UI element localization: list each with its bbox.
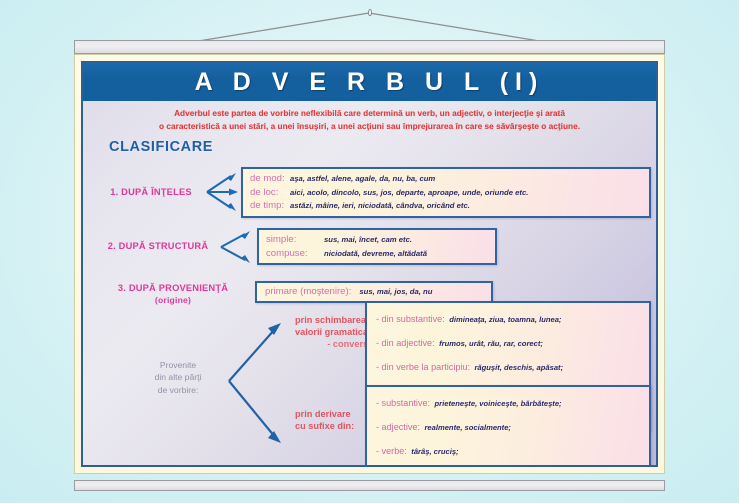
structura-item: compuse: niciodată, devreme, altădată: [266, 247, 488, 261]
definition-text: Adverbul este partea de vorbire neflexib…: [83, 101, 656, 136]
derivare-key-0: - substantive:: [376, 398, 430, 408]
title-bar: A D V E R B U L (I): [83, 63, 656, 101]
derivare-value-2: târâş, cruciş;: [411, 447, 458, 456]
conversiune-key-0: - din substantive:: [376, 314, 445, 324]
inteles-item: de timp: astăzi, mâine, ieri, niciodată,…: [250, 199, 642, 213]
section-provenienta-title: 3. DUPĂ PROVENIENŢĂ: [118, 283, 228, 293]
definition-line-1: Adverbul este partea de vorbire neflexib…: [91, 107, 648, 120]
hanging-hook-icon: [368, 9, 372, 16]
conversiune-value-2: răguşit, deschis, apăsat;: [474, 363, 563, 372]
provenite-label: Provenite din alte părţi de vorbire:: [128, 359, 228, 396]
section-provenienta-subtitle: (origine): [97, 295, 249, 306]
inteles-box: de mod: aşa, astfel, alene, agale, da, n…: [241, 167, 651, 218]
poster-rail-top: [74, 40, 665, 54]
derivare-key-2: - verbe:: [376, 446, 407, 456]
provenite-label-line-1: Provenite: [128, 359, 228, 371]
section-inteles-label: 1. DUPĂ ÎNŢELES: [97, 187, 205, 199]
arrows-two-icon: [219, 229, 253, 265]
arrows-three-icon: [205, 170, 239, 214]
inteles-examples-0: aşa, astfel, alene, agale, da, nu, ba, c…: [290, 174, 435, 185]
structura-examples-0: sus, mai, încet, cam etc.: [324, 235, 412, 246]
structura-examples-1: niciodată, devreme, altădată: [324, 249, 427, 260]
derivare-value-0: prieteneşte, voiniceşte, bărbăteşte;: [435, 399, 562, 408]
structura-item: simple: sus, mai, încet, cam etc.: [266, 233, 488, 247]
primare-item: primare (moştenire): sus, mai, jos, da, …: [265, 285, 483, 299]
conversiune-value-1: frumos, urât, rău, rar, corect;: [439, 339, 543, 348]
poster-frame: A D V E R B U L (I) Adverbul este partea…: [74, 54, 665, 474]
primare-term: primare (moştenire):: [265, 285, 351, 299]
derivare-value-1: realmente, socialmente;: [424, 423, 511, 432]
primare-box: primare (moştenire): sus, mai, jos, da, …: [255, 281, 493, 303]
provenite-label-line-3: de vorbire:: [128, 384, 228, 396]
conversiune-item: - din verbe la participiu: răguşit, desc…: [376, 354, 640, 378]
primare-examples: sus, mai, jos, da, nu: [359, 287, 432, 298]
arrows-fork-icon: [223, 309, 293, 459]
derivare-item: - substantive: prieteneşte, voiniceşte, …: [376, 390, 640, 414]
definition-line-2: o caracteristică a unei stări, a unei în…: [91, 120, 648, 133]
section-provenienta-label: 3. DUPĂ PROVENIENŢĂ (origine): [97, 281, 249, 305]
inteles-item: de mod: aşa, astfel, alene, agale, da, n…: [250, 172, 642, 186]
inteles-examples-1: aici, acolo, dincolo, sus, jos, departe,…: [290, 188, 528, 199]
derivare-key-1: - adjective:: [376, 422, 420, 432]
inteles-item: de loc: aici, acolo, dincolo, sus, jos, …: [250, 186, 642, 200]
derivare-item: - verbe: târâş, cruciş;: [376, 438, 640, 462]
conversiune-value-0: dimineaţa, ziua, toamna, lunea;: [449, 315, 561, 324]
inteles-examples-2: astăzi, mâine, ieri, niciodată, cândva, …: [290, 201, 470, 212]
derivare-item: - adjective: realmente, socialmente;: [376, 414, 640, 438]
inteles-term-2: de timp:: [250, 199, 290, 213]
inteles-term-0: de mod:: [250, 172, 290, 186]
conversiune-item: - din adjective: frumos, urât, rău, rar,…: [376, 330, 640, 354]
conversiune-key-2: - din verbe la participiu:: [376, 362, 470, 372]
poster-panel: A D V E R B U L (I) Adverbul este partea…: [81, 61, 658, 467]
conversiune-key-1: - din adjective:: [376, 338, 435, 348]
structura-term-1: compuse:: [266, 247, 324, 261]
structura-term-0: simple:: [266, 233, 324, 247]
inteles-term-1: de loc:: [250, 186, 290, 200]
section-structura-label: 2. DUPĂ STRUCTURĂ: [97, 241, 219, 253]
poster-rail-bottom: [74, 480, 665, 491]
provenite-label-line-2: din alte părţi: [128, 371, 228, 383]
section-inteles: 1. DUPĂ ÎNŢELES de mod:: [97, 167, 658, 218]
derivare-box: - substantive: prieteneşte, voiniceşte, …: [365, 385, 651, 467]
section-structura: 2. DUPĂ STRUCTURĂ simple: sus, mai, înce: [97, 228, 658, 265]
derivare-item: - adverbe: binişor, încetişor, repejor.: [376, 462, 640, 467]
clasificare-heading: CLASIFICARE: [109, 139, 656, 155]
poster-stage: A D V E R B U L (I) Adverbul este partea…: [0, 0, 739, 503]
page-title: A D V E R B U L (I): [195, 68, 545, 97]
structura-box: simple: sus, mai, încet, cam etc. compus…: [257, 228, 497, 265]
conversiune-item: - din substantive: dimineaţa, ziua, toam…: [376, 306, 640, 330]
